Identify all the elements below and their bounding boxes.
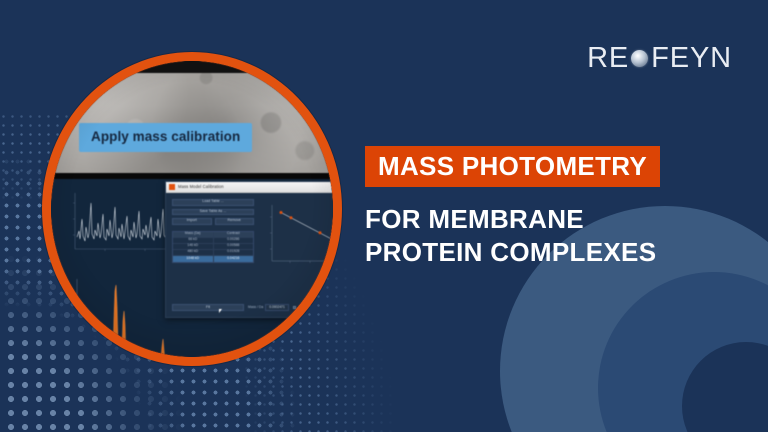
checkbox-icon[interactable] — [293, 306, 297, 310]
remove-button[interactable]: Remove — [215, 218, 255, 225]
fit-button[interactable]: Fit — [172, 304, 244, 311]
dialog-body: Load Table ... Save Table As ... Import … — [166, 193, 333, 317]
microscope-grain-texture — [51, 61, 333, 173]
mass-model-calibration-dialog[interactable]: Mass Model Calibration ✕ Load Table ... … — [165, 181, 333, 318]
column-header-contrast: Contrast — [214, 232, 254, 237]
logo-text-left: RE — [587, 44, 629, 73]
refeyn-logo: RE FEYN — [587, 44, 732, 73]
fit-button-label: Fit — [206, 306, 210, 310]
dialog-title: Mass Model Calibration — [178, 185, 224, 189]
load-table-button[interactable]: Load Table ... — [172, 199, 254, 206]
cell-contrast: 0.01928 — [214, 250, 254, 255]
calibration-scatter-chart — [258, 199, 333, 277]
cell-mass: 1048 kD — [173, 256, 214, 262]
app-window-topbar — [51, 61, 333, 73]
cell-mass: 66 kD — [173, 238, 214, 243]
cell-mass: 480 kD — [173, 250, 214, 255]
headline-line-2: PROTEIN COMPLEXES — [365, 236, 735, 269]
decorative-ring-inner — [682, 342, 768, 432]
dialog-titlebar[interactable]: Mass Model Calibration ✕ — [166, 182, 333, 193]
dialog-left-panel: Load Table ... Save Table As ... Import … — [172, 199, 254, 263]
banner-canvas: RE FEYN MASS PHOTOMETRY FOR MEMBRANE PRO… — [0, 0, 768, 432]
decorative-ring-middle — [598, 272, 768, 432]
headline-line-1: FOR MEMBRANE — [365, 203, 735, 236]
headline-block: MASS PHOTOMETRY FOR MEMBRANE PROTEIN COM… — [365, 146, 735, 268]
mass-slope-label: Mass / Da — [248, 306, 263, 309]
sphere-orb-icon — [631, 50, 648, 67]
cell-contrast: 0.04216 — [214, 256, 254, 262]
logo-text-right: FEYN — [651, 44, 732, 73]
app-area-edge — [51, 173, 333, 179]
magnifier-circle: Apply mass calibration — [42, 52, 342, 366]
mass-slope-field[interactable]: Mass / Da 0.0002471 — [248, 304, 289, 311]
cell-mass: 146 kD — [173, 244, 214, 249]
cell-contrast: 0.00286 — [214, 238, 254, 243]
app-icon — [169, 184, 175, 190]
dialog-footer: Fit Mass / Da 0.0002471 Intercept 0.0003… — [172, 304, 333, 311]
intercept-label: Intercept — [298, 306, 311, 309]
cursor-pointer-icon — [219, 309, 224, 313]
calibration-table[interactable]: Mass (Da) Contrast 66 kD 0.00286 146 kD … — [172, 231, 254, 263]
software-app-area: Mass Model Calibration ✕ Load Table ... … — [51, 173, 333, 357]
magnifier-content: Apply mass calibration — [51, 61, 333, 357]
intercept-input[interactable]: 0.0003609 — [314, 304, 333, 311]
apply-mass-calibration-button[interactable]: Apply mass calibration — [79, 123, 252, 152]
table-row[interactable]: 1048 kD 0.04216 — [173, 256, 253, 262]
mass-slope-input[interactable]: 0.0002471 — [265, 304, 289, 311]
intercept-field[interactable]: Intercept 0.0003609 — [293, 304, 333, 311]
import-button[interactable]: Import — [172, 218, 212, 225]
import-remove-row: Import Remove — [172, 218, 254, 228]
cell-contrast: 0.00588 — [214, 244, 254, 249]
microscope-field-image — [51, 61, 333, 173]
headline-badge: MASS PHOTOMETRY — [365, 146, 660, 187]
column-header-mass: Mass (Da) — [173, 232, 214, 237]
save-table-button[interactable]: Save Table As ... — [172, 209, 254, 216]
